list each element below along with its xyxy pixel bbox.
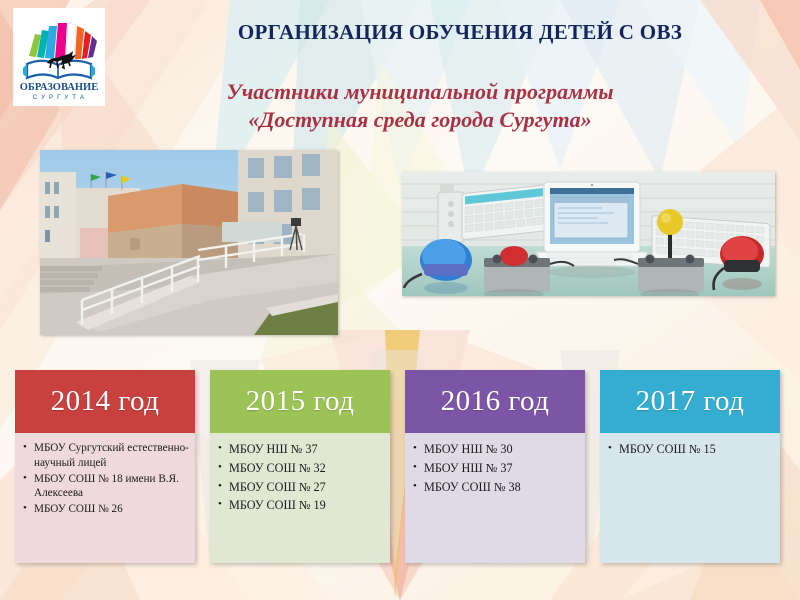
list-item: МБОУ НШ № 37	[413, 460, 579, 478]
list-item: МБОУ СОШ № 18 имени В.Я. Алексеева	[23, 472, 189, 502]
year-card-2015-header: 2015 год	[210, 370, 390, 433]
year-card-2017-header: 2017 год	[600, 370, 780, 433]
list-item: МБОУ СОШ № 19	[218, 497, 384, 515]
year-card-2016-body: МБОУ НШ № 30МБОУ НШ № 37МБОУ СОШ № 38	[405, 433, 585, 563]
list-item: МБОУ НШ № 37	[218, 441, 384, 459]
year-card-2014-header: 2014 год	[15, 370, 195, 433]
obrazovanie-surguta-logo-icon: ОБРАЗОВАНИЕ С У Р Г У Т А	[13, 8, 105, 106]
list-item: МБОУ СОШ № 15	[608, 441, 774, 459]
logo: ОБРАЗОВАНИЕ С У Р Г У Т А	[13, 8, 105, 106]
list-item: МБОУ СОШ № 32	[218, 460, 384, 478]
page-title: ОРГАНИЗАЦИЯ ОБУЧЕНИЯ ДЕТЕЙ С ОВЗ	[150, 20, 770, 45]
list-item: МБОУ СОШ № 27	[218, 479, 384, 497]
list-item: МБОУ СОШ № 26	[23, 502, 189, 517]
year-card-2016-header: 2016 год	[405, 370, 585, 433]
year-card-2017[interactable]: 2017 год МБОУ СОШ № 15	[600, 370, 780, 563]
school-list-2015: МБОУ НШ № 37МБОУ СОШ № 32МБОУ СОШ № 27МБ…	[218, 441, 384, 515]
logo-text-bottom: С У Р Г У Т А	[33, 95, 85, 101]
logo-text-top: ОБРАЗОВАНИЕ	[20, 82, 98, 93]
page-subtitle: Участники муниципальной программы «Досту…	[120, 78, 720, 134]
year-card-2014[interactable]: 2014 год МБОУ Сургутский естественно-нау…	[15, 370, 195, 563]
subtitle-line-1: Участники муниципальной программы	[120, 78, 720, 106]
year-card-2014-body: МБОУ Сургутский естественно-научный лице…	[15, 433, 195, 563]
year-card-2015[interactable]: 2015 год МБОУ НШ № 37МБОУ СОШ № 32МБОУ С…	[210, 370, 390, 563]
school-list-2014: МБОУ Сургутский естественно-научный лице…	[23, 441, 189, 517]
photo-school-ramp	[40, 150, 338, 335]
year-card-2015-body: МБОУ НШ № 37МБОУ СОШ № 32МБОУ СОШ № 27МБ…	[210, 433, 390, 563]
list-item: МБОУ Сургутский естественно-научный лице…	[23, 441, 189, 471]
photo-adaptive-equipment	[402, 172, 775, 296]
list-item: МБОУ СОШ № 38	[413, 479, 579, 497]
subtitle-line-2: «Доступная среда города Сургута»	[120, 106, 720, 134]
year-card-2017-body: МБОУ СОШ № 15	[600, 433, 780, 563]
year-card-2016[interactable]: 2016 год МБОУ НШ № 30МБОУ НШ № 37МБОУ СО…	[405, 370, 585, 563]
list-item: МБОУ НШ № 30	[413, 441, 579, 459]
school-list-2016: МБОУ НШ № 30МБОУ НШ № 37МБОУ СОШ № 38	[413, 441, 579, 496]
school-list-2017: МБОУ СОШ № 15	[608, 441, 774, 459]
